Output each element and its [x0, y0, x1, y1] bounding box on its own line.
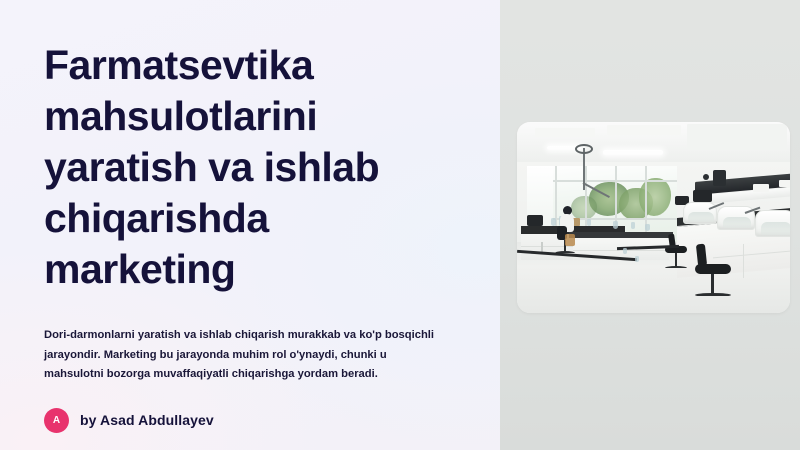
person-legs	[565, 234, 575, 246]
author-name: by Asad Abdullayev	[80, 412, 214, 428]
ceiling-panel	[535, 128, 595, 137]
page-title: Farmatsevtika mahsulotlarini yaratish va…	[44, 40, 444, 295]
glassware	[631, 222, 635, 229]
shelf-label	[779, 180, 790, 187]
ceiling-light	[603, 150, 663, 155]
laboratory-photo	[517, 122, 790, 313]
glassware	[587, 219, 591, 226]
fume-hood	[755, 210, 790, 237]
ceiling-panel	[607, 125, 681, 135]
body-paragraph: Dori-darmonlarni yaratish va ishlab chiq…	[44, 326, 444, 385]
slide-text-panel: Farmatsevtika mahsulotlarini yaratish va…	[0, 0, 500, 450]
overhead-arm-head	[575, 144, 593, 154]
author-byline: A by Asad Abdullayev	[44, 408, 456, 433]
presentation-slide: Farmatsevtika mahsulotlarini yaratish va…	[0, 0, 800, 450]
wall-unit	[713, 170, 726, 186]
glassware	[645, 224, 650, 231]
bench-monitor	[527, 215, 543, 226]
shelf-label	[753, 184, 769, 192]
glassware	[613, 221, 618, 229]
glassware	[551, 218, 556, 226]
wall-monitor	[693, 190, 712, 202]
fume-hood	[683, 202, 717, 224]
floor-item	[623, 248, 627, 254]
floor-item	[635, 256, 639, 262]
avatar: A	[44, 408, 69, 433]
slide-image-panel	[500, 0, 800, 450]
ceiling-panel	[687, 124, 787, 150]
